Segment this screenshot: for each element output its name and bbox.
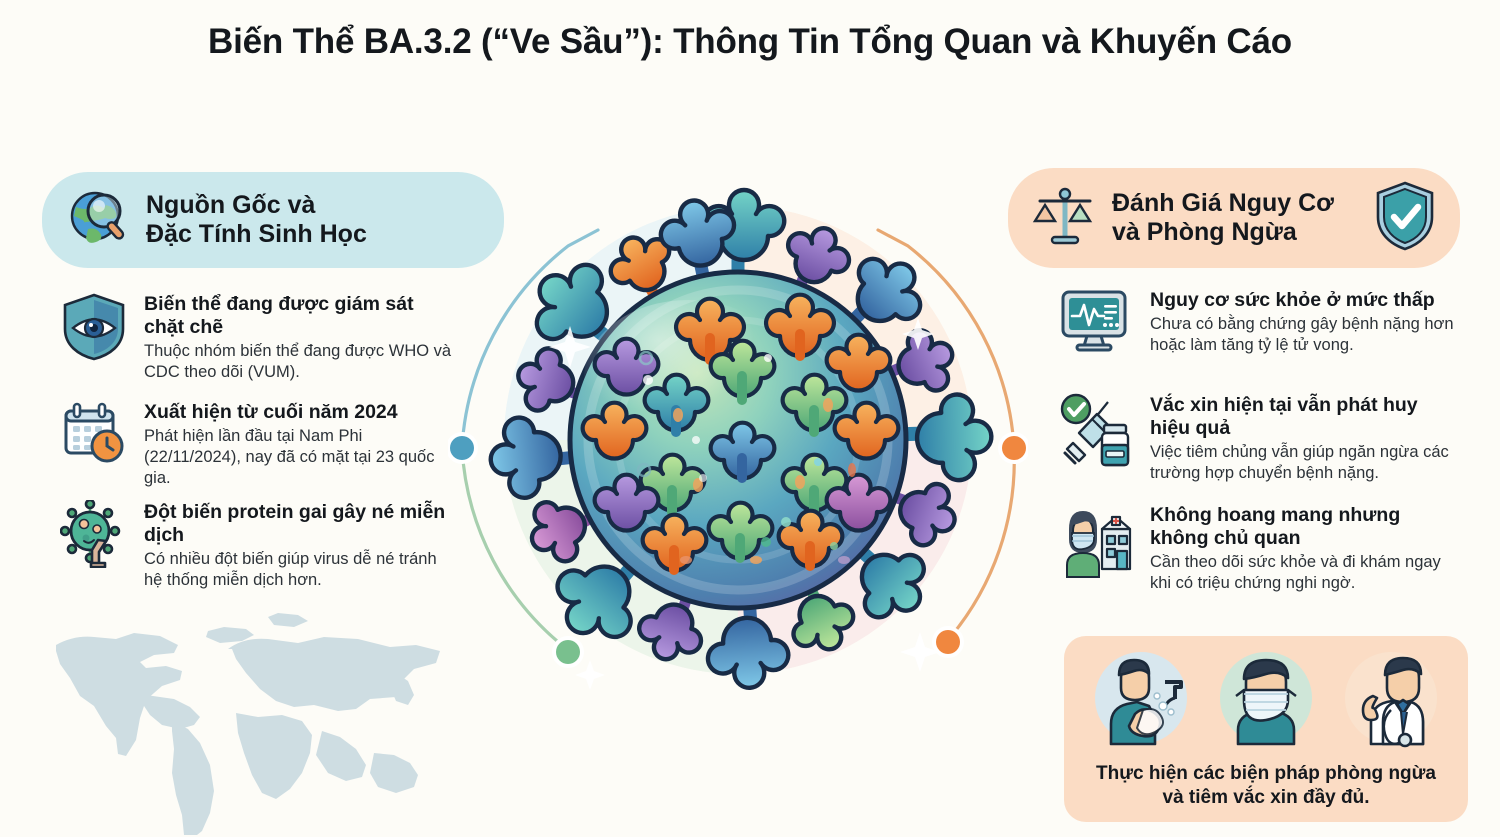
right-panel-header[interactable]: Đánh Giá Nguy Cơ và Phòng Ngừa (1008, 168, 1460, 268)
balance-scales-icon (1032, 181, 1098, 256)
right-item-3-body: Cần theo dõi sức khỏe và đi khám ngay kh… (1150, 552, 1458, 594)
left-item-spike-mutation[interactable]: Đột biến protein gai gây né miễn dịch Có… (58, 500, 458, 591)
right-panel-title: Đánh Giá Nguy Cơ và Phòng Ngừa (1112, 189, 1334, 248)
right-item-3-heading: Không hoang mang nhưng không chủ quan (1150, 504, 1458, 550)
handwashing-illustration (1085, 648, 1197, 761)
world-map-watermark (22, 605, 452, 835)
face-mask-illustration (1210, 648, 1322, 761)
connector-dot-right (998, 432, 1028, 464)
prevention-illustrations (1078, 648, 1454, 760)
left-item-surveillance[interactable]: Biến thể đang được giám sát chặt chẽ Thu… (58, 292, 458, 383)
right-item-2-body: Việc tiêm chủng vẫn giúp ngăn ngừa các t… (1150, 442, 1458, 484)
left-panel-header[interactable]: Nguồn Gốc và Đặc Tính Sinh Học (42, 172, 504, 268)
doctor-illustration (1335, 648, 1447, 761)
calendar-clock-icon (58, 400, 130, 472)
right-item-low-risk[interactable]: Nguy cơ sức khỏe ở mức thấp Chưa có bằng… (1058, 288, 1458, 366)
infographic-canvas: Biến Thể BA.3.2 (“Ve Sầu”): Thông Tin Tổ… (0, 0, 1500, 837)
right-item-vaccine-effective[interactable]: Vắc xin hiện tại vẫn phát huy hiệu quả V… (1058, 393, 1458, 484)
left-item-emergence-date[interactable]: Xuất hiện từ cuối năm 2024 Phát hiện lần… (58, 400, 458, 489)
coronavirus-illustration (448, 140, 1028, 730)
shield-eye-icon (58, 292, 130, 364)
right-item-2-heading: Vắc xin hiện tại vẫn phát huy hiệu quả (1150, 394, 1458, 440)
left-item-1-body: Thuộc nhóm biến thể đang được WHO và CDC… (144, 341, 458, 383)
page-title: Biến Thể BA.3.2 (“Ve Sầu”): Thông Tin Tổ… (0, 22, 1500, 62)
right-item-1-heading: Nguy cơ sức khỏe ở mức thấp (1150, 289, 1458, 312)
monitor-ecg-icon (1058, 288, 1136, 366)
globe-magnifier-icon (66, 185, 132, 256)
left-item-3-heading: Đột biến protein gai gây né miễn dịch (144, 501, 458, 547)
shield-check-icon (1374, 180, 1436, 257)
virus-antibody-icon (58, 500, 130, 572)
left-item-2-heading: Xuất hiện từ cuối năm 2024 (144, 401, 458, 424)
left-panel-title: Nguồn Gốc và Đặc Tính Sinh Học (146, 191, 367, 250)
left-item-1-heading: Biến thể đang được giám sát chặt chẽ (144, 293, 458, 339)
left-item-3-body: Có nhiều đột biến giúp virus dễ né tránh… (144, 549, 458, 591)
connector-dot-bottom-right (932, 626, 964, 658)
connector-dot-bottom-left (552, 636, 584, 668)
masked-person-hospital-icon (1058, 503, 1136, 581)
prevention-caption: Thực hiện các biện pháp phòng ngừa và ti… (1078, 762, 1454, 810)
right-item-1-body: Chưa có bằng chứng gây bệnh nặng hơn hoặ… (1150, 314, 1458, 356)
left-item-2-body: Phát hiện lần đầu tại Nam Phi (22/11/202… (144, 426, 458, 489)
prevention-card[interactable]: Thực hiện các biện pháp phòng ngừa và ti… (1064, 636, 1468, 822)
syringe-vaccine-check-icon (1058, 393, 1136, 471)
right-item-stay-vigilant[interactable]: Không hoang mang nhưng không chủ quan Cầ… (1058, 503, 1458, 594)
